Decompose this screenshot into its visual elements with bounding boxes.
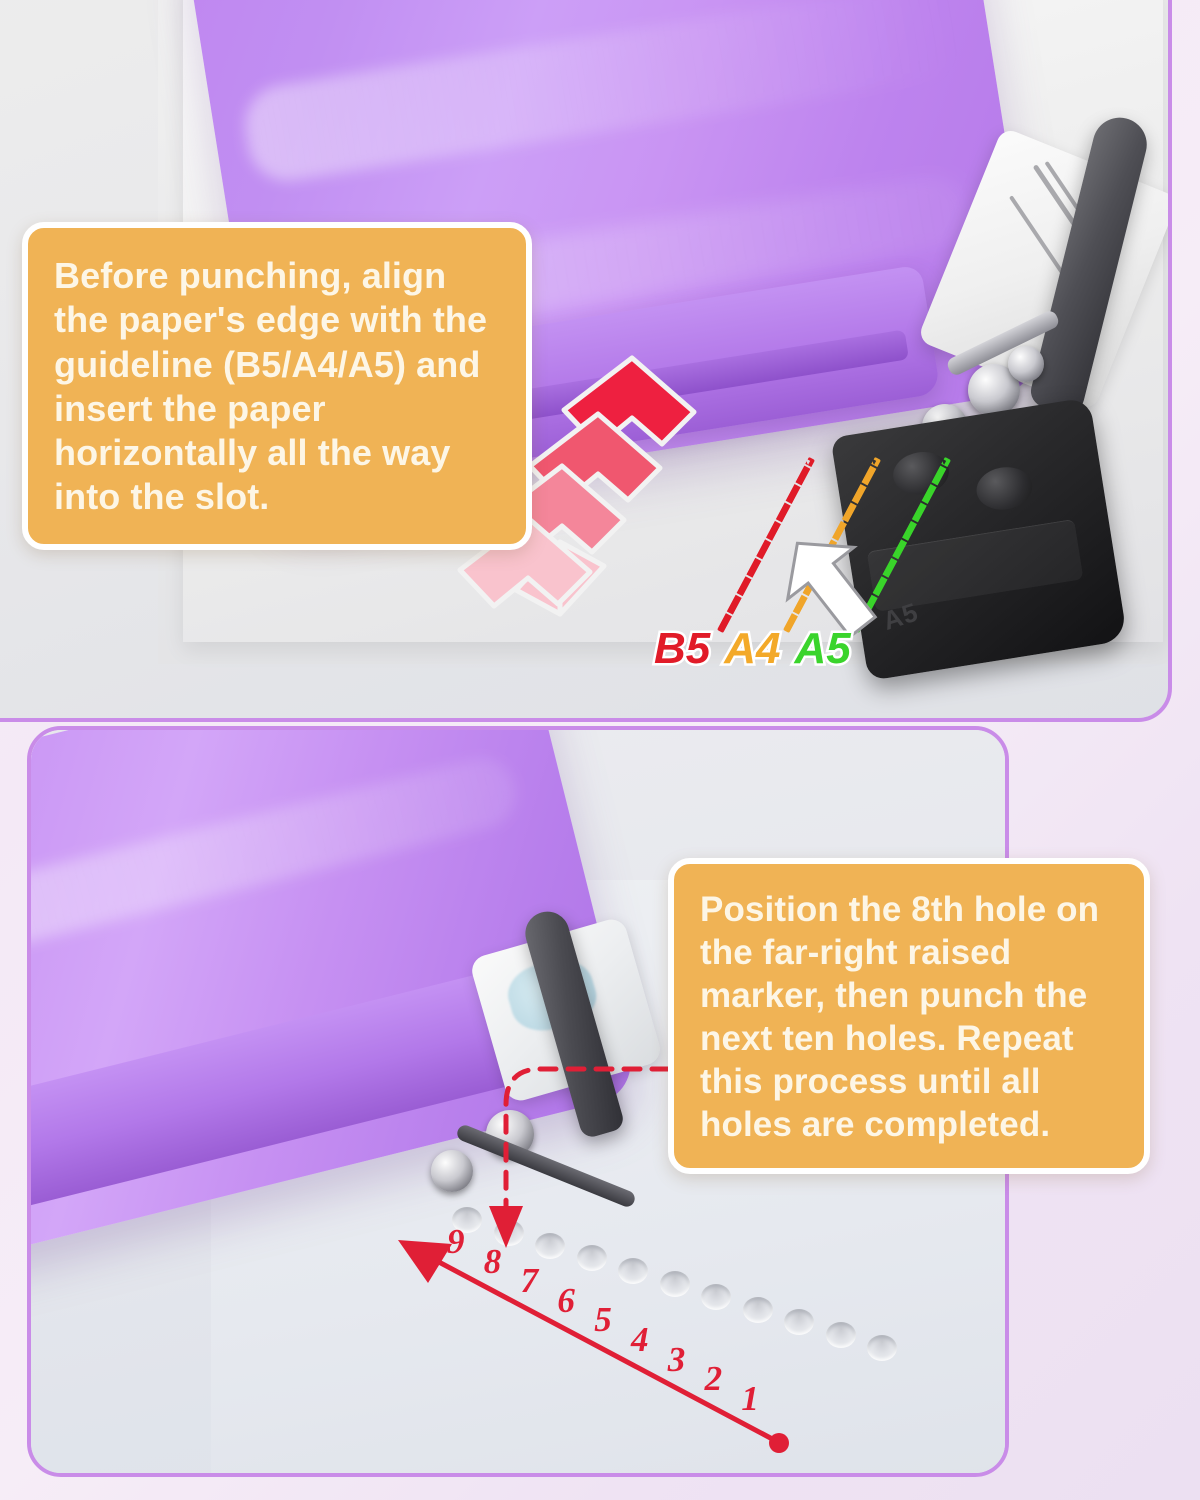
raised-marker-bump-right	[973, 463, 1035, 513]
punched-hole	[535, 1233, 565, 1259]
hole-number-label: 9	[447, 1222, 465, 1262]
size-label-a4: A4	[724, 624, 780, 674]
size-label-a5: A5	[795, 624, 851, 674]
punched-hole	[701, 1284, 731, 1310]
punched-hole	[618, 1258, 648, 1284]
hole-number-label: 6	[557, 1281, 575, 1321]
insertion-chevron-arrows	[508, 352, 708, 612]
hole-number-label: 1	[741, 1379, 759, 1419]
punched-hole	[867, 1335, 897, 1361]
hole-number-label: 7	[521, 1261, 539, 1301]
hinge-pin-small	[1008, 346, 1044, 382]
callout-hole-position-instruction: Position the 8th hole on the far-right r…	[668, 858, 1150, 1174]
hinge-pin-bottom-lower	[431, 1150, 473, 1192]
punched-hole	[577, 1245, 607, 1271]
hole-number-label: 5	[594, 1300, 612, 1340]
punched-hole	[743, 1297, 773, 1323]
hole-number-label: 2	[705, 1359, 723, 1399]
instruction-sheet: A5	[0, 0, 1200, 1500]
size-label-b5: B5	[654, 624, 710, 674]
punched-hole	[826, 1322, 856, 1348]
hole-number-label: 3	[668, 1340, 686, 1380]
punched-hole	[660, 1271, 690, 1297]
paper-size-legend: B5 A4 A5	[654, 624, 851, 674]
callout-alignment-instruction: Before punching, align the paper's edge …	[22, 222, 532, 550]
hole-number-label: 4	[631, 1320, 649, 1360]
base-groove	[867, 519, 1084, 612]
hole-number-label: 8	[484, 1242, 502, 1282]
